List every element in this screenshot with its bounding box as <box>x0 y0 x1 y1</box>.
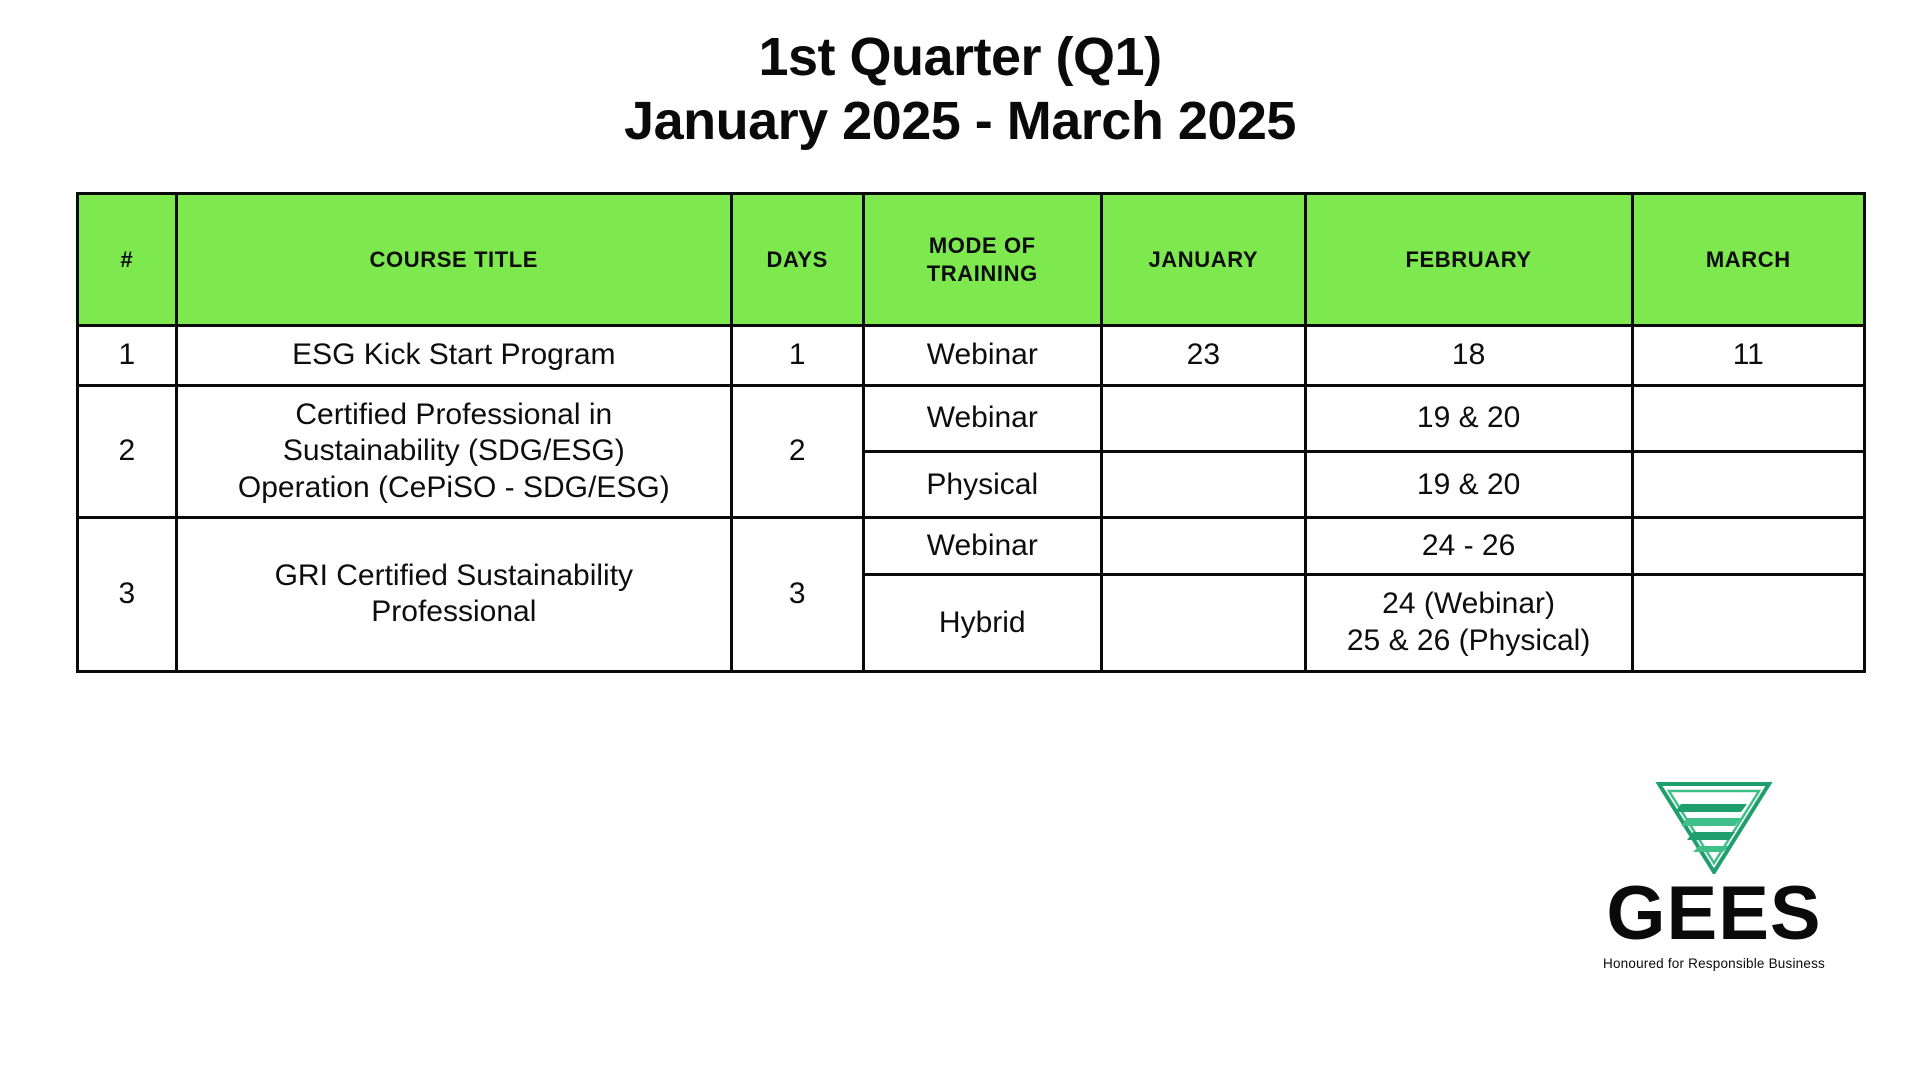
cell-row-number: 3 <box>78 518 177 671</box>
cell-february: 19 & 20 <box>1305 451 1632 517</box>
schedule-table: # COURSE TITLE DAYS MODE OF TRAINING JAN… <box>76 192 1866 673</box>
column-header-number: # <box>78 194 177 326</box>
table-row: 3 GRI Certified Sustainability Professio… <box>78 518 1865 575</box>
column-header-february: FEBRUARY <box>1305 194 1632 326</box>
column-header-days: DAYS <box>731 194 863 326</box>
cell-row-number: 1 <box>78 326 177 386</box>
slide-canvas: 1st Quarter (Q1) January 2025 - March 20… <box>0 0 1920 1080</box>
column-header-january: JANUARY <box>1102 194 1306 326</box>
cell-row-number: 2 <box>78 385 177 518</box>
cell-january <box>1102 385 1306 451</box>
mode-header-line-2: TRAINING <box>927 261 1038 286</box>
cell-days: 2 <box>731 385 863 518</box>
cell-january <box>1102 575 1306 671</box>
course-title-line: GRI Certified Sustainability <box>186 558 722 595</box>
cell-march <box>1632 385 1864 451</box>
cell-january <box>1102 518 1306 575</box>
cell-january: 23 <box>1102 326 1306 386</box>
cell-march <box>1632 575 1864 671</box>
course-title-line: Certified Professional in <box>186 397 722 434</box>
column-header-course-title: COURSE TITLE <box>176 194 731 326</box>
cell-january <box>1102 451 1306 517</box>
gees-diamond-icon <box>1655 782 1773 874</box>
column-header-mode-of-training: MODE OF TRAINING <box>863 194 1102 326</box>
cell-course-title: Certified Professional in Sustainability… <box>176 385 731 518</box>
cell-march <box>1632 518 1864 575</box>
cell-february-line: 25 & 26 (Physical) <box>1315 623 1623 660</box>
title-date-range: January 2025 - March 2025 <box>0 90 1920 154</box>
cell-march <box>1632 451 1864 517</box>
column-header-march: MARCH <box>1632 194 1864 326</box>
title-quarter: 1st Quarter (Q1) <box>0 26 1920 90</box>
cell-february: 24 (Webinar) 25 & 26 (Physical) <box>1305 575 1632 671</box>
cell-mode-of-training: Webinar <box>863 326 1102 386</box>
cell-february: 24 - 26 <box>1305 518 1632 575</box>
course-title-line: Operation (CePiSO - SDG/ESG) <box>186 470 722 507</box>
course-title-line: Professional <box>186 594 722 631</box>
logo-wordmark: GEES <box>1564 878 1864 950</box>
table-header: # COURSE TITLE DAYS MODE OF TRAINING JAN… <box>78 194 1865 326</box>
page-title: 1st Quarter (Q1) January 2025 - March 20… <box>0 26 1920 153</box>
mode-header-line-1: MODE OF <box>929 233 1036 258</box>
cell-course-title: ESG Kick Start Program <box>176 326 731 386</box>
course-title-line: Sustainability (SDG/ESG) <box>186 433 722 470</box>
cell-march: 11 <box>1632 326 1864 386</box>
cell-days: 1 <box>731 326 863 386</box>
table-header-row: # COURSE TITLE DAYS MODE OF TRAINING JAN… <box>78 194 1865 326</box>
table-row: 2 Certified Professional in Sustainabili… <box>78 385 1865 451</box>
cell-mode-of-training: Webinar <box>863 518 1102 575</box>
table-row: 1 ESG Kick Start Program 1 Webinar 23 18… <box>78 326 1865 386</box>
cell-february: 18 <box>1305 326 1632 386</box>
cell-mode-of-training: Hybrid <box>863 575 1102 671</box>
table-body: 1 ESG Kick Start Program 1 Webinar 23 18… <box>78 326 1865 672</box>
cell-course-title: GRI Certified Sustainability Professiona… <box>176 518 731 671</box>
cell-mode-of-training: Webinar <box>863 385 1102 451</box>
cell-february: 19 & 20 <box>1305 385 1632 451</box>
cell-days: 3 <box>731 518 863 671</box>
cell-february-line: 24 (Webinar) <box>1315 586 1623 623</box>
logo-tagline: Honoured for Responsible Business <box>1564 956 1864 971</box>
schedule-table-wrapper: # COURSE TITLE DAYS MODE OF TRAINING JAN… <box>76 192 1866 673</box>
gees-logo: GEES Honoured for Responsible Business <box>1564 782 1864 971</box>
cell-mode-of-training: Physical <box>863 451 1102 517</box>
